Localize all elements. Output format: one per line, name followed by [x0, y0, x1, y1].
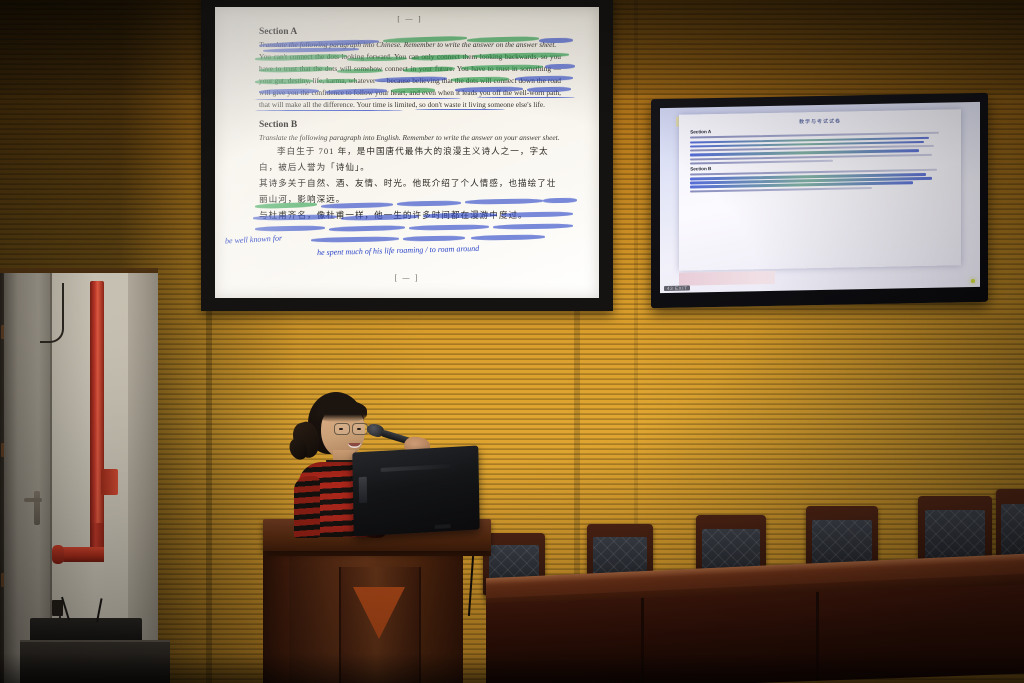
section-b-line-2: 其诗多关于自然、酒、友情、时光。他既介绍了个人情感，也描绘了壮丽山河，影响深远。	[259, 176, 561, 208]
tv-screen-surface: 教学与考试试卷 Section ASection B 43 EXIT	[660, 102, 980, 293]
section-b-line-1: 李白生于 701 年，是中国唐代最伟大的浪漫主义诗人之一，字太白，被后人誉为「诗…	[259, 144, 561, 176]
fire-pipe-valve	[101, 469, 118, 495]
section-a-instruction: Translate the following paragraph into C…	[259, 40, 561, 50]
tv-taskbar-label: 43 EXIT	[664, 285, 690, 291]
section-a-heading: Section A	[259, 27, 561, 37]
conference-chair[interactable]	[996, 489, 1024, 563]
hair-fringe	[317, 400, 367, 422]
tv-power-led	[971, 279, 975, 283]
podium-monitor[interactable]	[352, 446, 479, 537]
lectern[interactable]	[263, 519, 491, 683]
lecture-hall-scene: [ — ] Section A Translate the following …	[0, 0, 1024, 683]
hanging-cable	[40, 283, 64, 343]
equipment-case	[20, 640, 170, 683]
chair-quilted-pad	[1001, 504, 1024, 557]
table-panel-seam-2	[816, 592, 819, 681]
section-b-instruction: Translate the following paragraph into E…	[259, 133, 561, 143]
eye-right	[357, 428, 361, 430]
lectern-triangle-emblem	[353, 587, 405, 639]
monitor-vent	[380, 464, 451, 472]
section-a-body: You can't connect the dots looking forwa…	[259, 51, 561, 111]
fire-pipe-cap	[52, 545, 64, 564]
tv-bottom-pink-strip	[679, 271, 775, 286]
projection-surface: [ — ] Section A Translate the following …	[215, 7, 599, 298]
left-arm	[294, 476, 320, 538]
wall-mounted-tv[interactable]: 教学与考试试卷 Section ASection B 43 EXIT	[651, 93, 988, 308]
chair-quilted-pad	[925, 510, 986, 562]
front-projection-screen[interactable]: [ — ] Section A Translate the following …	[201, 0, 613, 311]
monitor-stand-foot	[434, 524, 450, 529]
wall-outlet[interactable]	[52, 600, 63, 616]
tv-mirrored-document: 教学与考试试卷 Section ASection B	[679, 110, 961, 271]
glasses	[334, 423, 368, 433]
monitor-logo	[359, 477, 367, 503]
door-handle[interactable]	[34, 491, 40, 525]
lectern-side-panel	[263, 555, 289, 683]
section-b-heading: Section B	[259, 120, 561, 130]
tv-document-lines: Section ASection B	[690, 125, 950, 193]
eye-left	[339, 428, 343, 430]
glasses-lens-left	[334, 423, 350, 435]
chair-back-frame	[996, 489, 1024, 563]
section-b-line-3: 与杜甫齐名，像杜甫一样，他一生的许多时间都在漫游中度过。	[259, 208, 561, 224]
fire-pipe-horizontal	[58, 547, 104, 562]
document-page-header: [ — ]	[259, 15, 561, 23]
table-panel-seam-1	[641, 598, 644, 683]
projected-document: [ — ] Section A Translate the following …	[215, 7, 599, 298]
document-page-footer: [ — ]	[215, 275, 599, 282]
